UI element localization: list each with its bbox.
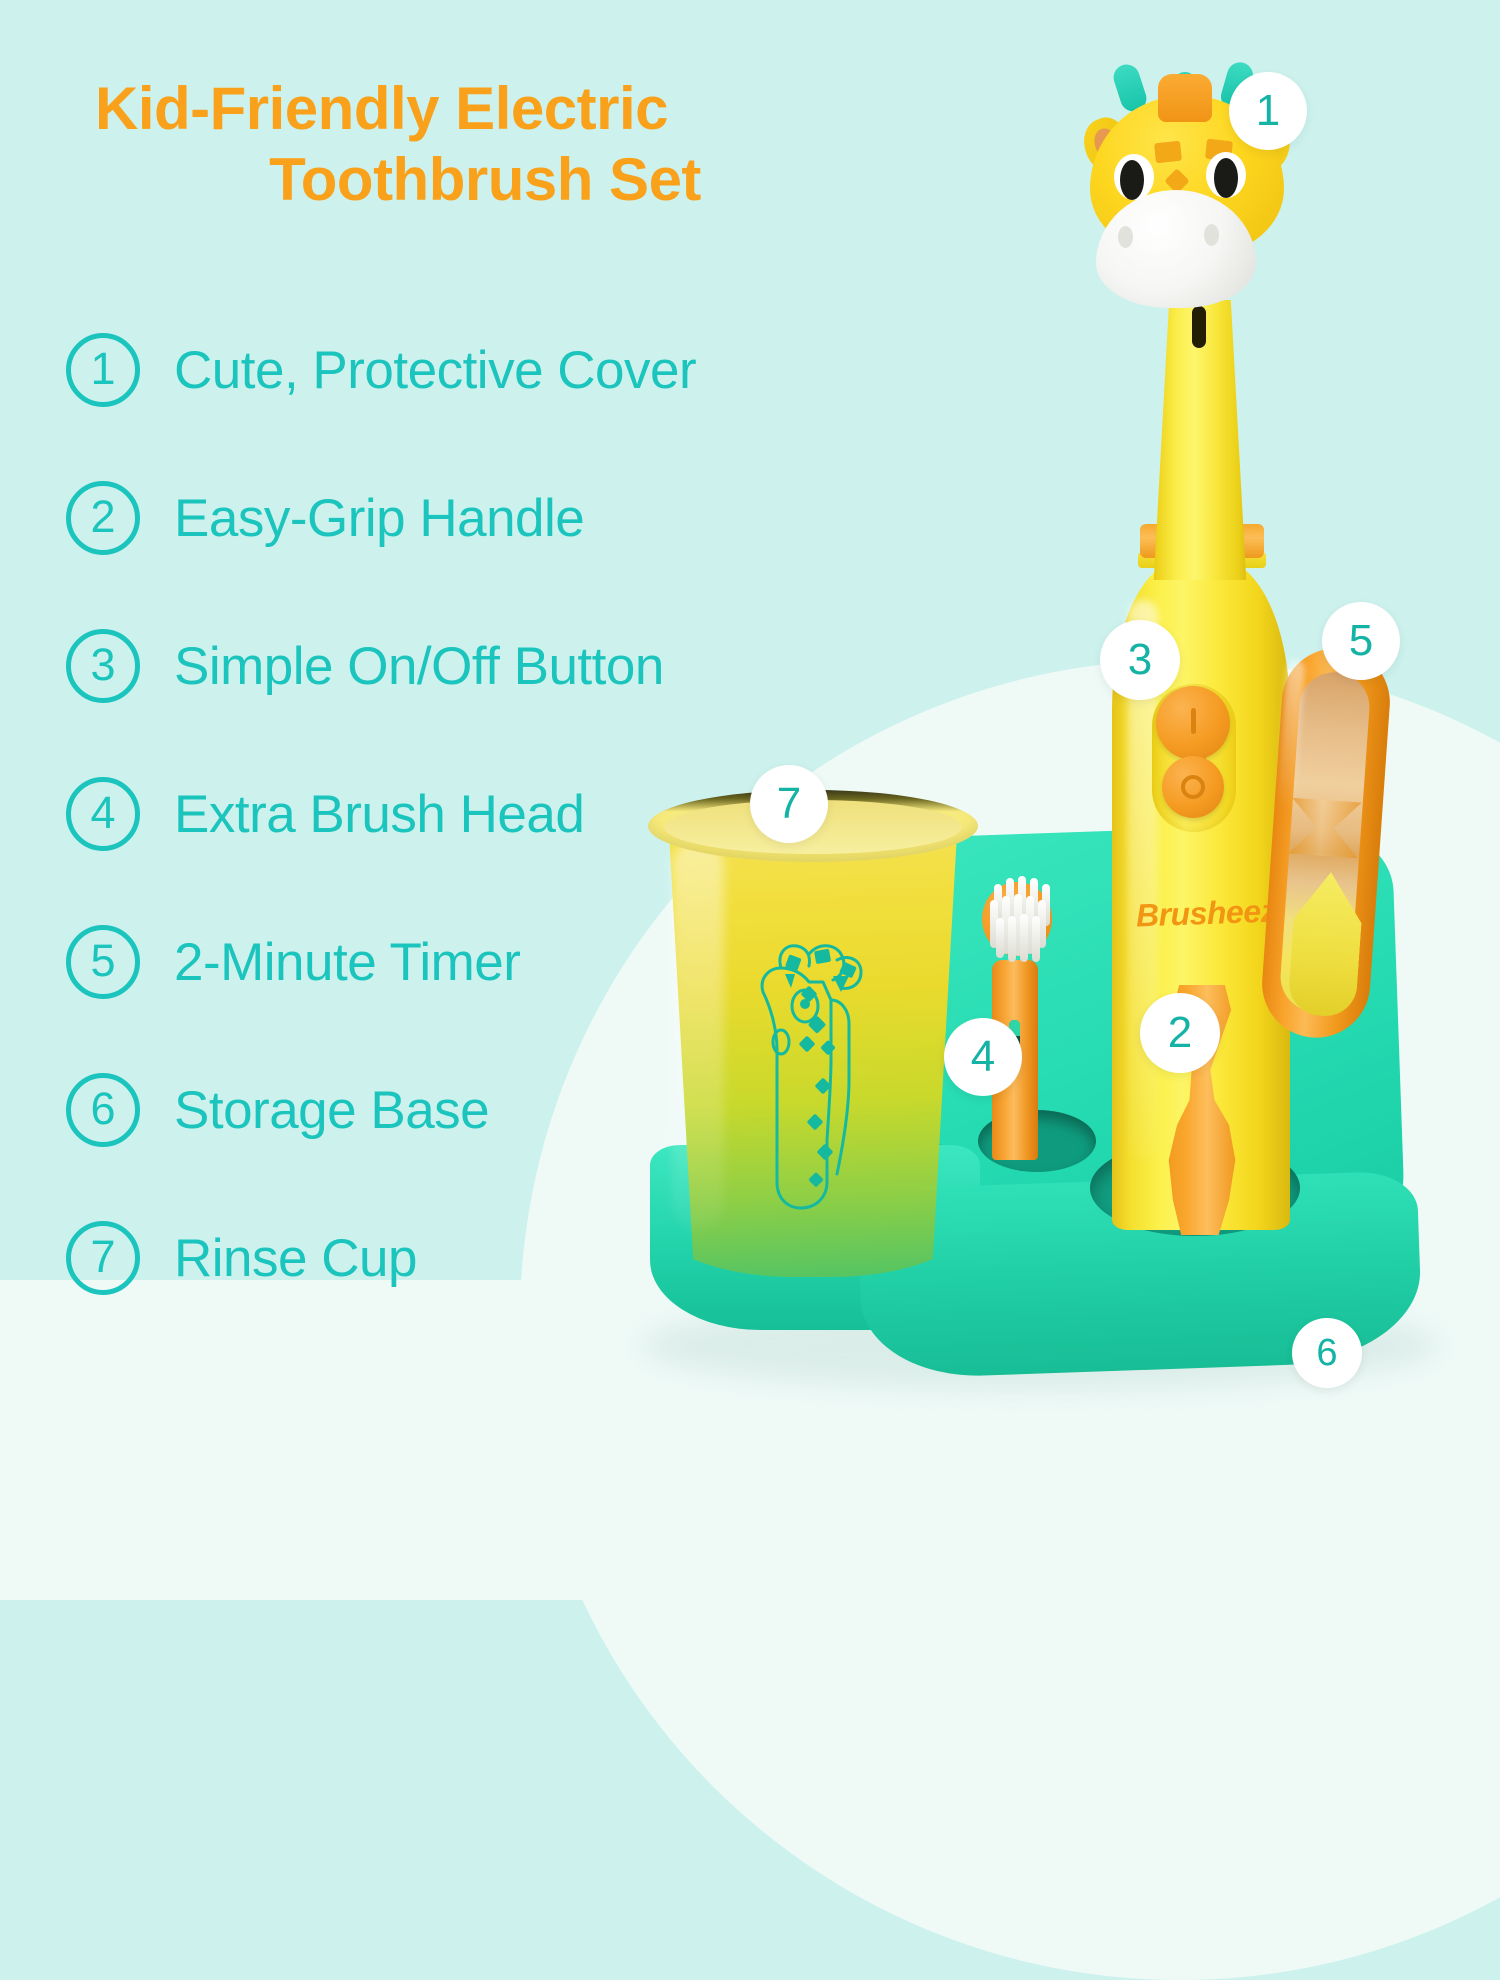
feature-number-badge: 1 xyxy=(66,333,140,407)
bristle xyxy=(996,918,1004,958)
feature-number-badge: 2 xyxy=(66,481,140,555)
callout-badge-2: 2 xyxy=(1140,993,1220,1073)
giraffe-nostril-left xyxy=(1118,226,1133,248)
feature-label: Simple On/Off Button xyxy=(174,636,664,697)
title-line-2: Toothbrush Set xyxy=(95,145,875,216)
giraffe-top-patch xyxy=(1158,74,1212,122)
feature-number-badge: 4 xyxy=(66,777,140,851)
feature-number-badge: 3 xyxy=(66,629,140,703)
bristle xyxy=(1020,914,1028,962)
list-item: 4 Extra Brush Head xyxy=(66,740,826,888)
neck-slot xyxy=(1192,306,1206,348)
power-off-icon xyxy=(1181,775,1205,799)
list-item: 2 Easy-Grip Handle xyxy=(66,444,826,592)
feature-number-badge: 7 xyxy=(66,1221,140,1295)
feature-label: 2-Minute Timer xyxy=(174,932,520,993)
feature-list: 1 Cute, Protective Cover 2 Easy-Grip Han… xyxy=(66,296,826,1332)
callout-badge-3: 3 xyxy=(1100,620,1180,700)
giraffe-eye-right-icon xyxy=(1214,158,1238,198)
list-item: 3 Simple On/Off Button xyxy=(66,592,826,740)
list-item: 1 Cute, Protective Cover xyxy=(66,296,826,444)
callout-badge-1: 1 xyxy=(1229,72,1307,150)
title-line-1: Kid-Friendly Electric xyxy=(95,75,668,142)
callout-badge-6: 6 xyxy=(1292,1318,1362,1388)
power-on-icon xyxy=(1191,708,1196,734)
feature-label: Storage Base xyxy=(174,1080,489,1141)
feature-label: Extra Brush Head xyxy=(174,784,584,845)
callout-badge-4: 4 xyxy=(944,1018,1022,1096)
feature-number-badge: 6 xyxy=(66,1073,140,1147)
feature-label: Rinse Cup xyxy=(174,1228,417,1289)
list-item: 6 Storage Base xyxy=(66,1036,826,1184)
giraffe-spot xyxy=(1154,141,1182,164)
bristle xyxy=(1032,916,1040,962)
giraffe-eye-left-icon xyxy=(1120,160,1144,200)
page-title: Kid-Friendly Electric Toothbrush Set xyxy=(95,74,875,216)
feature-number-badge: 5 xyxy=(66,925,140,999)
bristle xyxy=(1008,916,1016,962)
list-item: 7 Rinse Cup xyxy=(66,1184,826,1332)
list-item: 5 2-Minute Timer xyxy=(66,888,826,1036)
callout-badge-5: 5 xyxy=(1322,602,1400,680)
giraffe-nostril-right xyxy=(1204,224,1219,246)
feature-label: Cute, Protective Cover xyxy=(174,340,696,401)
feature-label: Easy-Grip Handle xyxy=(174,488,584,549)
